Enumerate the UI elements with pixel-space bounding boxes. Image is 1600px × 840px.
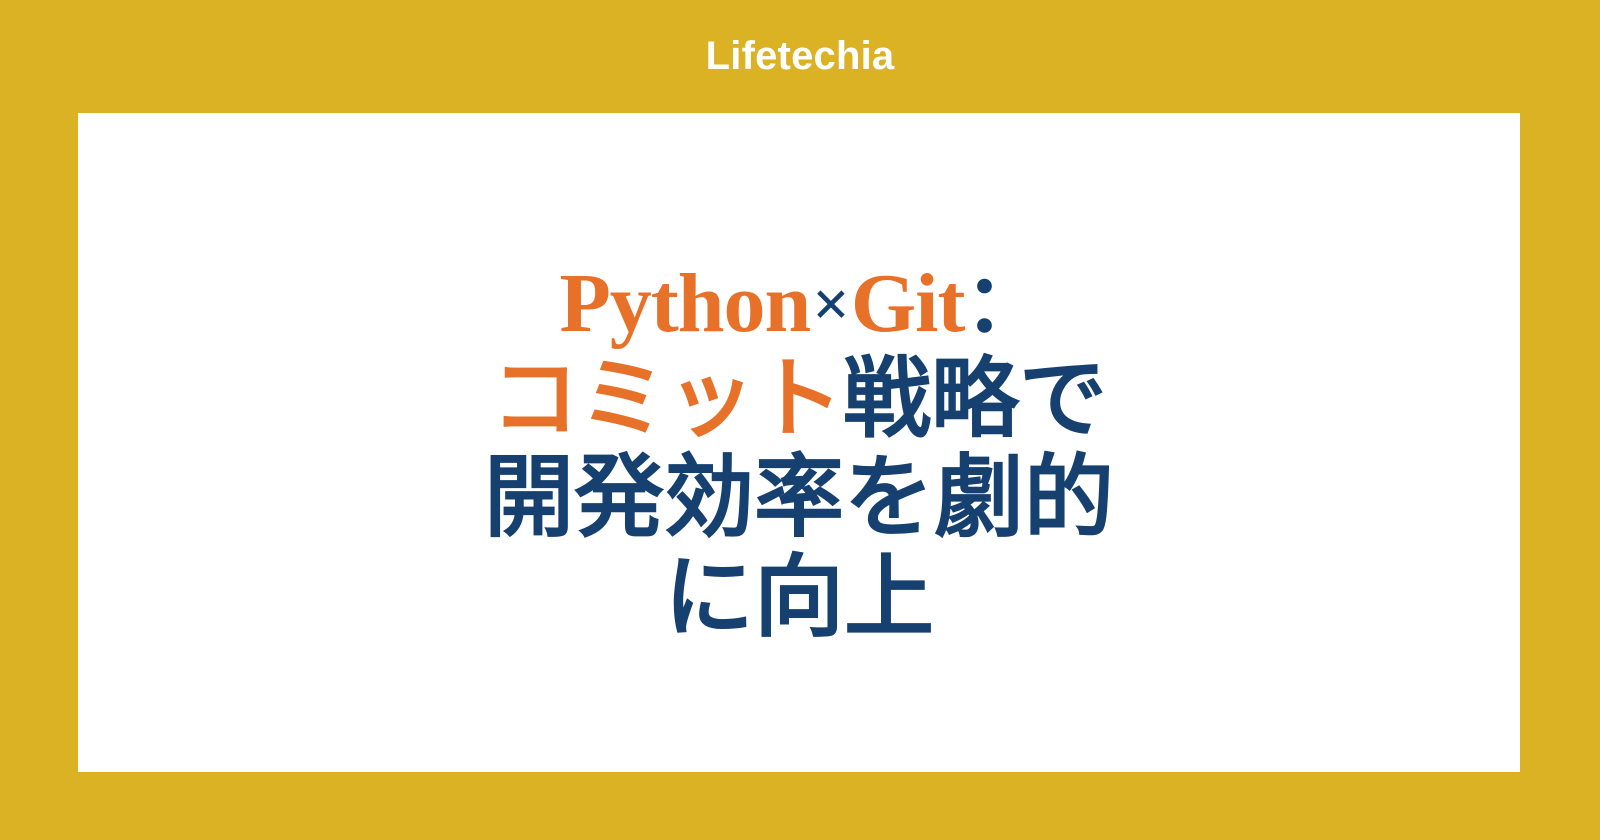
headline-line-2: コミット戦略で <box>491 352 1107 449</box>
headline-segment-git: Git <box>851 257 965 350</box>
headline-line-1: Python×Git： <box>560 255 1039 352</box>
headline-line-3: 開発効率を劇的 <box>484 449 1114 549</box>
headline-segment-commit: コミット <box>491 352 843 449</box>
headline-segment-multiply-symbol: × <box>810 268 851 341</box>
content-card: Python×Git： コミット戦略で 開発効率を劇的 に向上 <box>78 113 1520 772</box>
site-title: Lifetechia <box>706 36 895 76</box>
headline-segment-python: Python <box>560 257 811 350</box>
thumbnail-canvas: Lifetechia Python×Git： コミット戦略で 開発効率を劇的 に… <box>0 0 1600 840</box>
headline-segment-dev-efficiency: 開発効率を劇的 <box>484 449 1114 548</box>
headline-segment-colon: ： <box>964 261 1038 349</box>
headline-segment-improve: に向上 <box>664 549 934 648</box>
site-header: Lifetechia <box>0 0 1600 113</box>
headline-line-4: に向上 <box>664 549 934 649</box>
headline-segment-strategy: 戦略で <box>843 352 1107 449</box>
headline-block: Python×Git： コミット戦略で 開発効率を劇的 に向上 <box>78 113 1520 772</box>
